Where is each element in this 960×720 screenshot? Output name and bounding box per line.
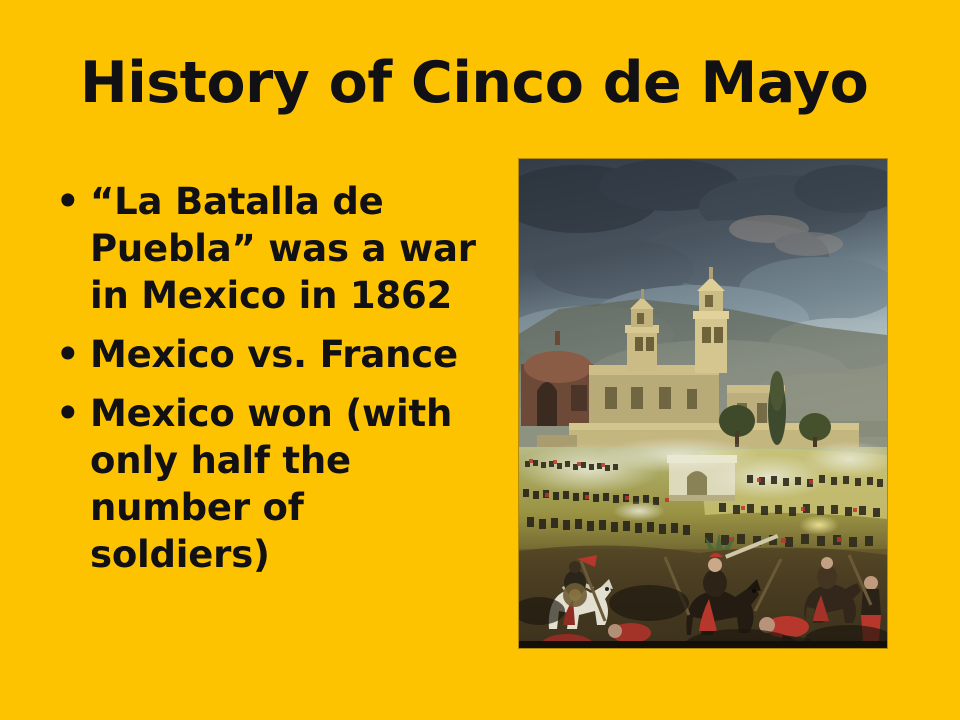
battle-of-puebla-painting (519, 159, 887, 648)
list-item-text: Mexico vs. France (90, 331, 486, 378)
list-item-text: “La Batalla de Puebla” was a war in Mexi… (90, 178, 486, 319)
list-item: • “La Batalla de Puebla” was a war in Me… (46, 178, 486, 319)
list-item: • Mexico vs. France (46, 331, 486, 378)
bullet-list: • “La Batalla de Puebla” was a war in Me… (46, 178, 486, 578)
slide: History of Cinco de Mayo • “La Batalla d… (0, 0, 960, 720)
page-title: History of Cinco de Mayo (80, 50, 890, 120)
bullet-marker-icon: • (56, 331, 78, 378)
bullet-marker-icon: • (56, 178, 78, 225)
bullet-marker-icon: • (56, 390, 78, 437)
list-item: • Mexico won (with only half the number … (46, 390, 486, 578)
list-item-text: Mexico won (with only half the number of… (90, 390, 486, 578)
